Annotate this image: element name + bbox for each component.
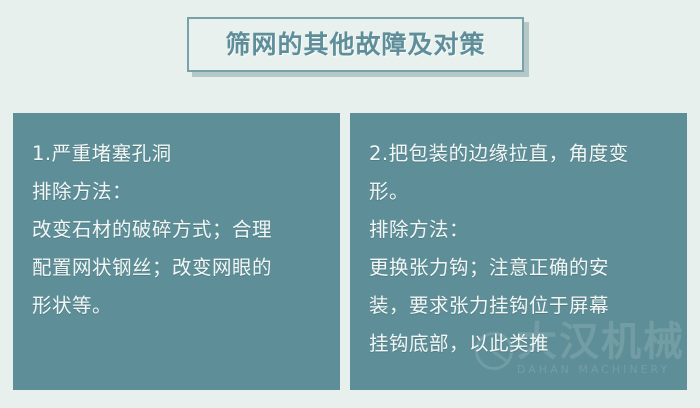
watermark-english-text: DAHAN MACHINERY xyxy=(517,363,670,376)
title-banner: 筛网的其他故障及对策 xyxy=(187,17,524,72)
content-panel-2: 2.把包装的边缘拉直，角度变 形。 排除方法： 更换张力钩；注意正确的安 装，要… xyxy=(350,113,687,390)
content-panel-1: 1.严重堵塞孔洞 排除方法： 改变石材的破碎方式；合理 配置网状钢丝；改变网眼的… xyxy=(13,113,340,390)
slide-canvas: 筛网的其他故障及对策 1.严重堵塞孔洞 排除方法： 改变石材的破碎方式；合理 配… xyxy=(0,0,700,408)
page-title: 筛网的其他故障及对策 xyxy=(225,32,485,57)
panel-2-text: 2.把包装的边缘拉直，角度变 形。 排除方法： 更换张力钩；注意正确的安 装，要… xyxy=(369,135,673,363)
panel-1-text: 1.严重堵塞孔洞 排除方法： 改变石材的破碎方式；合理 配置网状钢丝；改变网眼的… xyxy=(32,135,326,325)
